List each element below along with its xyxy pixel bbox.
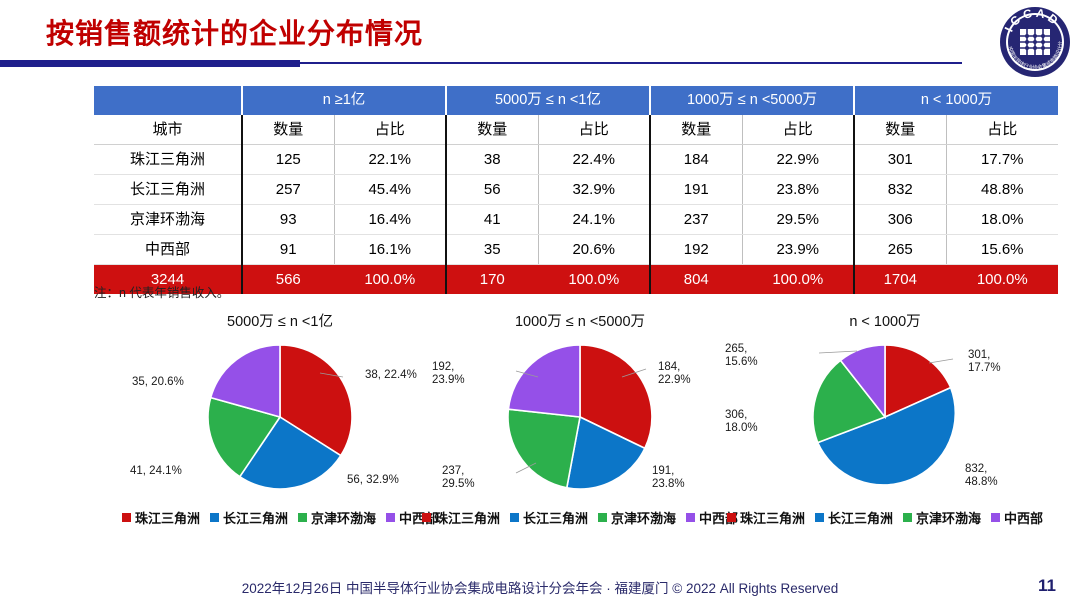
subheader-city: 城市 [94,115,242,145]
legend-label: 珠江三角洲 [135,508,200,527]
label-line-1: 191, [652,465,674,477]
legend-swatch-blue [815,513,824,522]
title-rule-thick [0,60,300,67]
pie-chart-3-title: n < 1000万 [715,310,1055,331]
row-cell: 23.8% [742,175,854,205]
label-line-2: 23.8% [652,478,685,490]
pie-chart-1-title: 5000万 ≤ n <1亿 [110,310,450,331]
legend-item-zhujiang: 珠江三角洲 [727,508,805,527]
legend-swatch-green [903,513,912,522]
total-cell: 100.0% [334,265,446,295]
footer-text: 2022年12月26日 中国半导体行业协会集成电路设计分会年会 · 福建厦门 ©… [0,577,1080,597]
row-cell: 91 [242,235,334,265]
label-line-2: 18.0% [725,422,758,434]
legend-item-jingjin: 京津环渤海 [903,508,981,527]
legend-swatch-red [422,513,431,522]
subheader-count-4: 数量 [854,115,946,145]
row-city: 京津环渤海 [94,205,242,235]
row-cell: 22.9% [742,145,854,175]
total-cell: 1704 [854,265,946,295]
page-title: 按销售额统计的企业分布情况 [46,12,423,52]
row-cell: 45.4% [334,175,446,205]
legend-item-changjiang: 长江三角洲 [510,508,588,527]
group-header-blank [94,86,242,115]
row-cell: 32.9% [538,175,650,205]
legend-label: 中西部 [1004,508,1043,527]
row-cell: 191 [650,175,742,205]
legend-swatch-red [122,513,131,522]
pie-chart-group: 5000万 ≤ n <1亿 38, 22.4% 56, 32.9% 41, 24… [0,310,1080,560]
label-line-2: 22.9% [658,374,691,386]
total-cell: 170 [446,265,538,295]
row-cell: 184 [650,145,742,175]
row-cell: 15.6% [946,235,1058,265]
legend-swatch-blue [510,513,519,522]
row-cell: 41 [446,205,538,235]
group-header-1: n ≥1亿 [242,86,446,115]
pie-chart-1-label-purple: 35, 20.6% [132,376,184,389]
legend-label: 珠江三角洲 [435,508,500,527]
label-line-2: 17.7% [968,362,1001,374]
pie-chart-1-label-blue: 56, 32.9% [347,474,399,487]
pie-chart-1-legend: 珠江三角洲 长江三角洲 京津环渤海 中西部 [110,508,450,527]
legend-label: 京津环渤海 [916,508,981,527]
row-cell: 23.9% [742,235,854,265]
legend-swatch-green [298,513,307,522]
table-sub-header-row: 城市 数量 占比 数量 占比 数量 占比 数量 占比 [94,115,1058,145]
subheader-pct-3: 占比 [742,115,854,145]
label-line-1: 301, [968,349,990,361]
row-cell: 832 [854,175,946,205]
legend-item-jingjin: 京津环渤海 [598,508,676,527]
legend-label: 长江三角洲 [523,508,588,527]
pie-chart-2-label-green: 237,29.5% [442,465,475,491]
legend-item-zhujiang: 珠江三角洲 [422,508,500,527]
pie-chart-3-legend: 珠江三角洲 长江三角洲 京津环渤海 中西部 [715,508,1055,527]
pie-chart-3-label-green: 306,18.0% [725,409,758,435]
row-city: 珠江三角洲 [94,145,242,175]
table-row: 珠江三角洲 125 22.1% 38 22.4% 184 22.9% 301 1… [94,145,1058,175]
iccad-logo: I C C A D 中国半导体行业协会集成电路设计分会 [998,5,1072,79]
table-row: 长江三角洲 257 45.4% 56 32.9% 191 23.8% 832 4… [94,175,1058,205]
row-cell: 35 [446,235,538,265]
pie-chart-3-label-purple: 265,15.6% [725,343,758,369]
row-city: 长江三角洲 [94,175,242,205]
row-cell: 237 [650,205,742,235]
pie-chart-1-svg [200,337,360,497]
pie-chart-2-svg [500,337,660,497]
legend-label: 京津环渤海 [311,508,376,527]
row-cell: 18.0% [946,205,1058,235]
row-cell: 24.1% [538,205,650,235]
legend-swatch-purple [386,513,395,522]
subheader-pct-2: 占比 [538,115,650,145]
subheader-count-2: 数量 [446,115,538,145]
row-cell: 56 [446,175,538,205]
table-row: 中西部 91 16.1% 35 20.6% 192 23.9% 265 15.6… [94,235,1058,265]
label-line-1: 265, [725,343,747,355]
legend-label: 珠江三角洲 [740,508,805,527]
label-line-1: 832, [965,463,987,475]
total-cell: 804 [650,265,742,295]
subheader-pct-1: 占比 [334,115,446,145]
table-group-header-row: n ≥1亿 5000万 ≤ n <1亿 1000万 ≤ n <5000万 n <… [94,86,1058,115]
table-note: 注：n 代表年销售收入。 [94,282,229,301]
row-cell: 306 [854,205,946,235]
row-cell: 257 [242,175,334,205]
pie-chart-2-label-red: 184,22.9% [658,361,691,387]
pie-chart-3-area: 301,17.7% 832,48.8% 306,18.0% 265,15.6% [715,335,1055,495]
label-line-1: 306, [725,409,747,421]
row-cell: 20.6% [538,235,650,265]
total-cell: 566 [242,265,334,295]
page-number: 11 [1038,576,1056,596]
legend-item-jingjin: 京津环渤海 [298,508,376,527]
pie-chart-3-label-blue: 832,48.8% [965,463,998,489]
pie-chart-3-label-red: 301,17.7% [968,349,1001,375]
legend-swatch-blue [210,513,219,522]
pie-chart-3-svg [805,337,965,497]
legend-swatch-purple [686,513,695,522]
group-header-2: 5000万 ≤ n <1亿 [446,86,650,115]
row-cell: 192 [650,235,742,265]
subheader-pct-4: 占比 [946,115,1058,145]
label-line-1: 237, [442,465,464,477]
pie-chart-2: 1000万 ≤ n <5000万 184,22.9% [410,310,750,495]
slide: 按销售额统计的企业分布情况 I C C [0,0,1080,607]
row-cell: 38 [446,145,538,175]
label-line-1: 184, [658,361,680,373]
row-cell: 29.5% [742,205,854,235]
row-cell: 265 [854,235,946,265]
legend-item-zhujiang: 珠江三角洲 [122,508,200,527]
legend-label: 京津环渤海 [611,508,676,527]
subheader-count-3: 数量 [650,115,742,145]
total-cell: 100.0% [946,265,1058,295]
pie-chart-1: 5000万 ≤ n <1亿 38, 22.4% 56, 32.9% 41, 24… [110,310,450,495]
pie-chart-2-legend: 珠江三角洲 长江三角洲 京津环渤海 中西部 [410,508,750,527]
legend-swatch-purple [991,513,1000,522]
row-cell: 17.7% [946,145,1058,175]
table-row: 京津环渤海 93 16.4% 41 24.1% 237 29.5% 306 18… [94,205,1058,235]
pie-chart-2-label-purple: 192,23.9% [432,361,465,387]
row-cell: 16.1% [334,235,446,265]
row-cell: 22.4% [538,145,650,175]
label-line-2: 15.6% [725,356,758,368]
row-cell: 16.4% [334,205,446,235]
row-cell: 125 [242,145,334,175]
pie-chart-2-label-blue: 191,23.8% [652,465,685,491]
row-city: 中西部 [94,235,242,265]
legend-label: 长江三角洲 [828,508,893,527]
label-line-1: 192, [432,361,454,373]
table-total-row: 3244 566 100.0% 170 100.0% 804 100.0% 17… [94,265,1058,295]
title-rule-thin [300,62,962,64]
pie-chart-2-title: 1000万 ≤ n <5000万 [410,310,750,331]
legend-item-changjiang: 长江三角洲 [210,508,288,527]
total-cell: 100.0% [538,265,650,295]
group-header-4: n < 1000万 [854,86,1058,115]
row-cell: 22.1% [334,145,446,175]
distribution-table: n ≥1亿 5000万 ≤ n <1亿 1000万 ≤ n <5000万 n <… [94,86,986,294]
row-cell: 301 [854,145,946,175]
legend-item-changjiang: 长江三角洲 [815,508,893,527]
pie-chart-1-area: 38, 22.4% 56, 32.9% 41, 24.1% 35, 20.6% [110,335,450,495]
legend-swatch-green [598,513,607,522]
legend-label: 长江三角洲 [223,508,288,527]
iccad-logo-icon: I C C A D 中国半导体行业协会集成电路设计分会 [998,5,1072,79]
label-line-2: 48.8% [965,476,998,488]
row-cell: 93 [242,205,334,235]
label-line-2: 23.9% [432,374,465,386]
pie-chart-2-area: 184,22.9% 191,23.8% 237,29.5% 192,23.9% [410,335,750,495]
pie-chart-1-label-green: 41, 24.1% [130,465,182,478]
legend-item-zhongxibu: 中西部 [991,508,1043,527]
label-line-2: 29.5% [442,478,475,490]
group-header-3: 1000万 ≤ n <5000万 [650,86,854,115]
row-cell: 48.8% [946,175,1058,205]
subheader-count-1: 数量 [242,115,334,145]
pie-chart-3: n < 1000万 301,17.7% 832,48.8% [715,310,1055,495]
legend-swatch-red [727,513,736,522]
total-cell: 100.0% [742,265,854,295]
